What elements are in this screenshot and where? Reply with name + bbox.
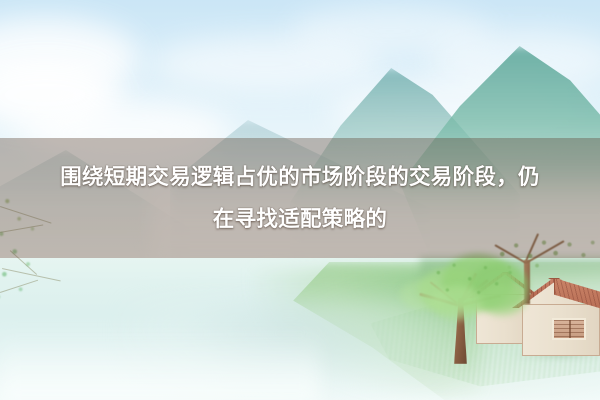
- caption-band: 围绕短期交易逻辑占优的市场阶段的交易阶段，仍 在寻找适配策略的: [0, 138, 600, 258]
- shuttered-window: [552, 318, 586, 340]
- window-mullion: [569, 320, 571, 338]
- landscape-image: 围绕短期交易逻辑占优的市场阶段的交易阶段，仍 在寻找适配策略的: [0, 0, 600, 400]
- ground-haze-lower: [0, 330, 320, 400]
- leafy-tree: [408, 252, 538, 382]
- tree-leaf-detail: [416, 254, 528, 316]
- caption-text-line2: 在寻找适配策略的: [20, 198, 580, 240]
- caption-text: 围绕短期交易逻辑占优的市场阶段的交易阶段，仍: [20, 156, 580, 198]
